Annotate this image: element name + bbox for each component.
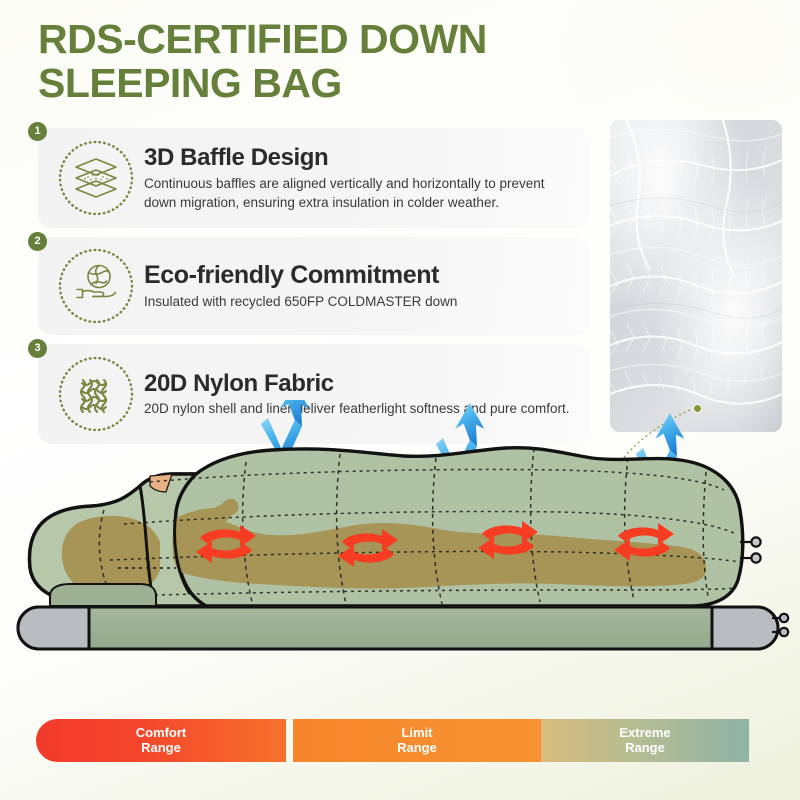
comfort-range-segment: Comfort Range	[36, 719, 286, 762]
sleeping-bag-shell	[30, 448, 761, 606]
feature-text-2: Eco-friendly Commitment Insulated with r…	[144, 261, 590, 311]
feature-badge-3: 3	[28, 339, 47, 358]
limit-range-label-1: Limit	[397, 726, 437, 741]
feature-description-2: Insulated with recycled 650FP COLDMASTER…	[144, 292, 574, 311]
page-title-line2: SLEEPING BAG	[38, 62, 638, 106]
feature-badge-2: 2	[28, 232, 47, 251]
feature-card-3d-baffle-design: 3D Baffle Design Continuous baffles are …	[38, 128, 590, 228]
feature-title-3: 20D Nylon Fabric	[144, 370, 574, 398]
feature-card-eco-friendly-commitment: Eco-friendly Commitment Insulated with r…	[38, 237, 590, 335]
feature-badge-1: 1	[28, 122, 47, 141]
limit-range-segment: Limit Range	[293, 719, 541, 762]
sleeping-pad	[18, 607, 788, 649]
infographic-page: RDS-CERTIFIED DOWN SLEEPING BAG 1	[0, 0, 800, 800]
pillow	[50, 584, 156, 606]
layered-baffle-icon	[48, 135, 144, 221]
feature-text-1: 3D Baffle Design Continuous baffles are …	[144, 144, 590, 212]
temperature-rating-bar: Comfort Range Limit Range Extreme Range …	[0, 686, 800, 791]
feature-description-1: Continuous baffles are aligned verticall…	[144, 174, 574, 212]
comfort-range-label-2: Range	[136, 741, 187, 756]
extreme-range-label-2: Range	[619, 741, 670, 756]
comfort-range-label-1: Comfort	[136, 726, 187, 741]
feature-title-1: 3D Baffle Design	[144, 144, 574, 172]
page-title-line1: RDS-CERTIFIED DOWN	[38, 16, 487, 62]
extreme-range-segment: Extreme Range	[541, 719, 749, 762]
photo-connector-dot	[693, 404, 702, 413]
down-feather-macro-photo	[610, 120, 782, 432]
hand-holding-globe-icon	[48, 243, 144, 329]
page-title: RDS-CERTIFIED DOWN SLEEPING BAG	[38, 18, 638, 106]
feature-title-2: Eco-friendly Commitment	[144, 261, 574, 290]
sleeping-bag-cutaway-illustration	[0, 400, 800, 685]
limit-range-label-2: Range	[397, 741, 437, 756]
extreme-range-label-1: Extreme	[619, 726, 670, 741]
